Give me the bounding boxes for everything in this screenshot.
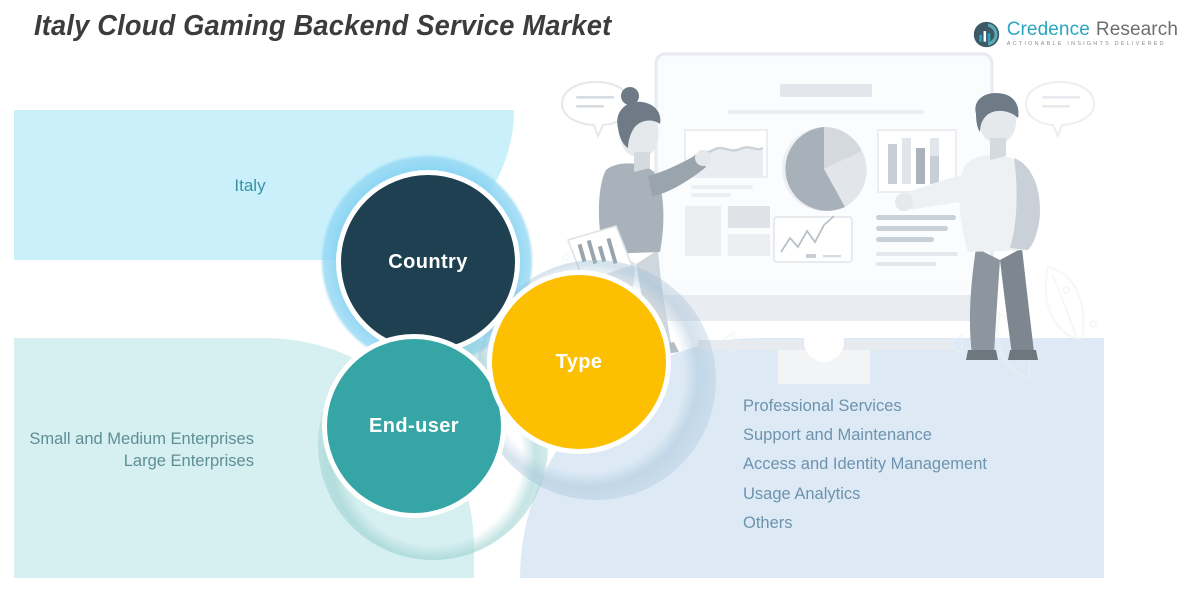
logo-tagline: Actionable Insights Delivered xyxy=(1007,42,1178,48)
bubble-end-user-label: End-user xyxy=(369,415,459,438)
bubble-end-user[interactable]: End-user xyxy=(322,334,506,518)
end-user-item-list: Small and Medium Enterprises Large Enter… xyxy=(14,428,254,473)
type-item-list: Professional Services Support and Mainte… xyxy=(743,392,1143,538)
list-item: Professional Services xyxy=(743,392,1143,421)
logo-word-credence: Credence xyxy=(1007,20,1090,39)
list-item: Italy xyxy=(14,176,486,196)
monitor-stand xyxy=(698,322,954,384)
speech-bubble-right xyxy=(1026,82,1094,136)
list-item: Access and Identity Management xyxy=(743,450,1143,479)
country-item-list: Italy xyxy=(14,176,486,196)
pie-chart xyxy=(782,127,867,211)
list-item: Support and Maintenance xyxy=(743,421,1143,450)
logo-text: Credence Research Actionable Insights De… xyxy=(1007,20,1178,48)
list-item: Large Enterprises xyxy=(14,450,254,472)
list-item: Others xyxy=(743,509,1143,538)
logo-word-research: Research xyxy=(1096,20,1178,39)
bubble-type-label: Type xyxy=(556,351,603,374)
list-item: Small and Medium Enterprises xyxy=(14,428,254,450)
bubble-country[interactable]: Country xyxy=(336,170,520,354)
page-title: Italy Cloud Gaming Backend Service Marke… xyxy=(34,10,611,43)
bubble-type[interactable]: Type xyxy=(487,270,671,454)
infographic-canvas: Italy Cloud Gaming Backend Service Marke… xyxy=(0,0,1198,615)
bubble-country-label: Country xyxy=(388,251,467,274)
brand-logo: Credence Research Actionable Insights De… xyxy=(973,14,1178,54)
line-chart xyxy=(774,216,852,262)
bar-chart-circle-logo-icon xyxy=(973,21,1000,48)
list-item: Usage Analytics xyxy=(743,480,1143,509)
